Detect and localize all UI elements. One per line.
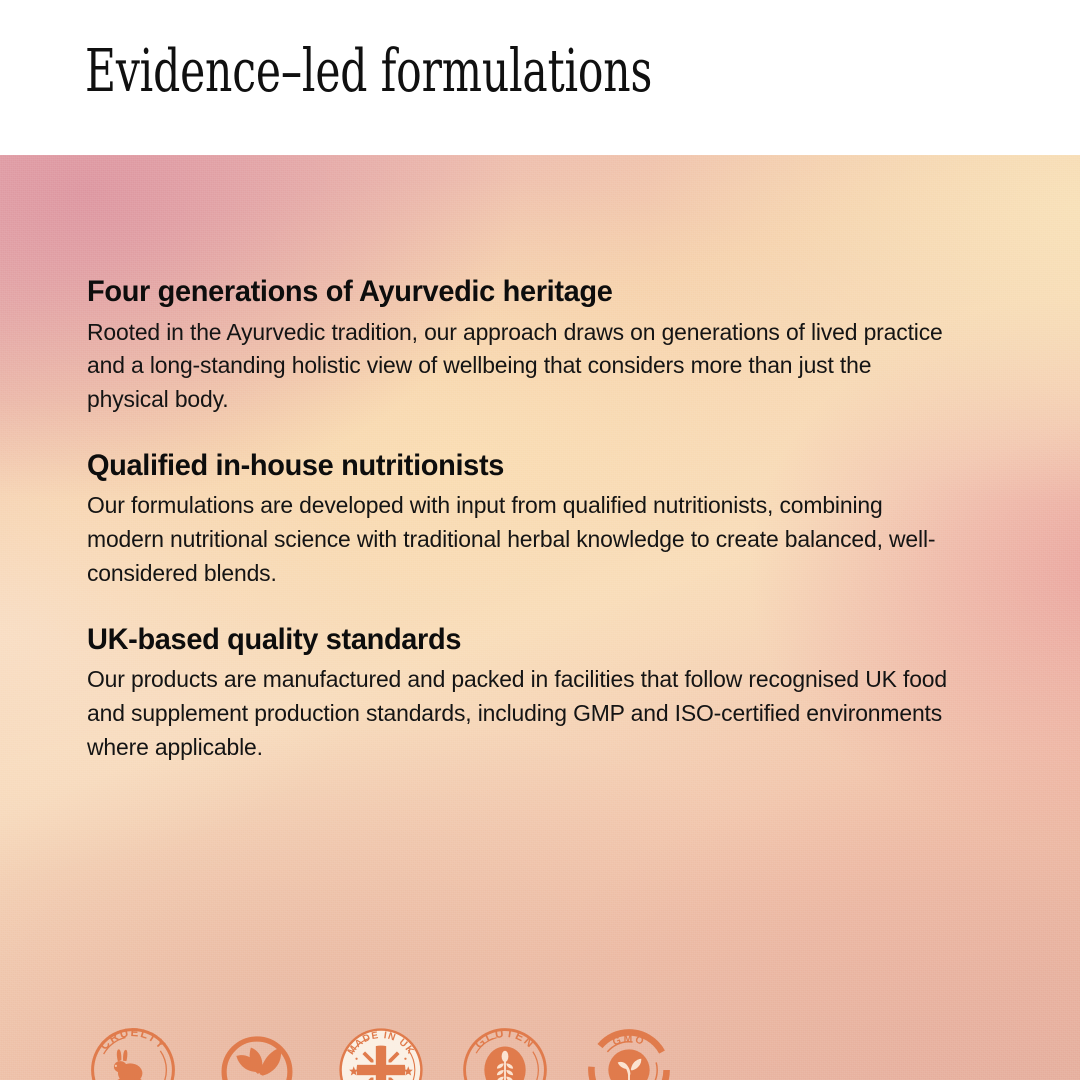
gluten-free-badge: GLUTEN FREE — [458, 1023, 552, 1080]
marketing-card: Evidence–led formulations Four generatio… — [0, 0, 1080, 1080]
made-in-uk-badge: MADE IN UK MADE IN UK — [334, 1023, 428, 1080]
section-body: Rooted in the Ayurvedic tradition, our a… — [87, 316, 950, 417]
cruelty-free-badge: CRUELTY FREE — [86, 1023, 180, 1080]
section-body: Our products are manufactured and packed… — [87, 663, 950, 764]
section-heading: Four generations of Ayurvedic heritage — [87, 275, 956, 310]
section-heading: UK-based quality standards — [87, 623, 956, 658]
certification-badge-row: CRUELTY FREE — [86, 1023, 676, 1080]
gradient-background-panel: Four generations of Ayurvedic heritage R… — [0, 155, 1080, 1080]
vegan-badge: VEGAN — [210, 1023, 304, 1080]
leaves-icon — [236, 1047, 281, 1075]
content-column: Four generations of Ayurvedic heritage R… — [87, 275, 987, 765]
feature-section-quality: UK-based quality standards Our products … — [87, 623, 987, 765]
feature-section-nutritionists: Qualified in-house nutritionists Our for… — [87, 449, 987, 591]
header-band: Evidence–led formulations — [0, 0, 1080, 155]
feature-section-heritage: Four generations of Ayurvedic heritage R… — [87, 275, 987, 417]
page-title: Evidence–led formulations — [85, 40, 652, 102]
section-body: Our formulations are developed with inpu… — [87, 489, 950, 590]
gmo-free-badge: GMO FREE — [582, 1023, 676, 1080]
rabbit-icon — [114, 1049, 144, 1080]
section-heading: Qualified in-house nutritionists — [87, 449, 956, 484]
